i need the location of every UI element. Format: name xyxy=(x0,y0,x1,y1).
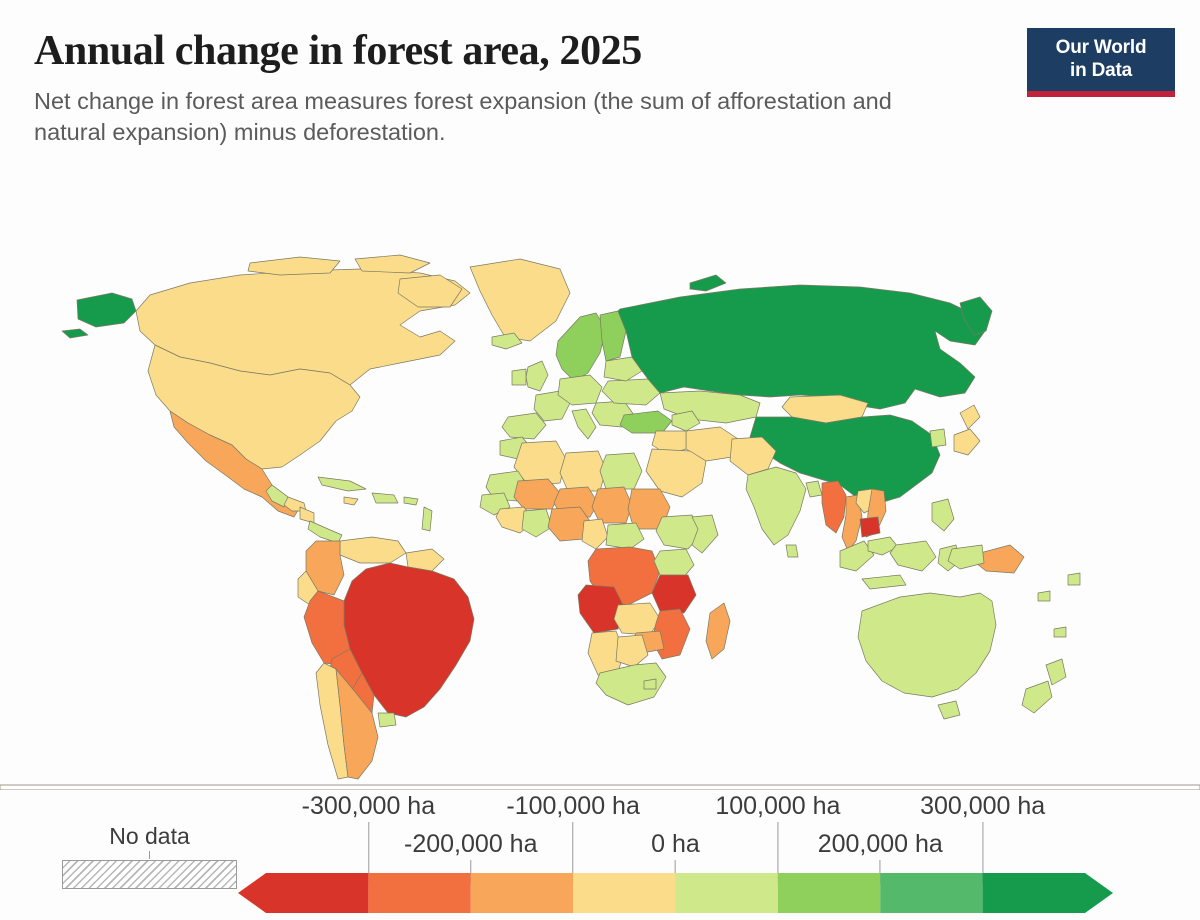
legend-no-data-label: No data xyxy=(62,823,237,849)
country-cuba[interactable] xyxy=(318,477,366,491)
country-alaska[interactable] xyxy=(77,293,136,327)
country-botswana[interactable] xyxy=(616,635,648,667)
country-new-zealand-south[interactable] xyxy=(1022,681,1052,713)
country-cameroon[interactable] xyxy=(582,519,608,549)
country-sri-lanka[interactable] xyxy=(786,545,798,557)
country-lesser-antilles[interactable] xyxy=(422,507,432,531)
country-canada-arctic-1[interactable] xyxy=(248,257,340,275)
legend-bin-1[interactable] xyxy=(368,873,470,913)
country-borneo[interactable] xyxy=(890,541,936,571)
country-jamaica[interactable] xyxy=(344,497,358,505)
country-pacific-islands-2[interactable] xyxy=(1068,573,1080,585)
country-venezuela[interactable] xyxy=(340,537,406,563)
chart-subtitle: Net change in forest area measures fores… xyxy=(34,86,934,148)
country-cambodia[interactable] xyxy=(860,517,880,537)
map-legend: No data -300,000 ha-100,000 ha100,000 ha… xyxy=(0,785,1200,920)
legend-bin-2[interactable] xyxy=(471,873,573,913)
legend-bar-area[interactable] xyxy=(238,873,1113,913)
our-world-in-data-logo[interactable]: Our World in Data xyxy=(1027,28,1175,97)
country-turkey[interactable] xyxy=(620,411,672,433)
logo-line-1: Our World xyxy=(1027,36,1175,59)
legend-tick-label: 200,000 ha xyxy=(818,829,943,859)
country-ireland[interactable] xyxy=(512,369,526,385)
country-egypt[interactable] xyxy=(600,453,642,489)
country-fiji[interactable] xyxy=(1054,627,1066,637)
country-philippines[interactable] xyxy=(932,499,954,531)
country-new-zealand-north[interactable] xyxy=(1046,659,1066,685)
legend-tick-label: -200,000 ha xyxy=(404,829,537,859)
country-tanzania[interactable] xyxy=(652,575,696,613)
country-japan[interactable] xyxy=(960,405,980,429)
country-tasmania[interactable] xyxy=(938,701,960,719)
page-title: Annual change in forest area, 2025 xyxy=(34,26,984,76)
country-india[interactable] xyxy=(746,467,806,545)
legend-no-data-tick xyxy=(149,851,150,859)
legend-no-data-swatch xyxy=(62,860,237,889)
legend-tick-label: -100,000 ha xyxy=(506,791,639,821)
country-car[interactable] xyxy=(606,523,644,549)
country-indonesia-java[interactable] xyxy=(862,575,906,589)
legend-bin-4[interactable] xyxy=(676,873,778,913)
map-svg xyxy=(0,245,1200,790)
country-costa-rica-panama[interactable] xyxy=(308,521,342,543)
country-ghana-ivory[interactable] xyxy=(522,509,552,537)
country-korea[interactable] xyxy=(930,429,946,447)
legend-bar-svg[interactable] xyxy=(238,873,1113,913)
country-pacific-islands-1[interactable] xyxy=(1038,591,1050,601)
country-canada-arctic-2[interactable] xyxy=(355,255,430,273)
legend-color-scale[interactable]: -300,000 ha-100,000 ha100,000 ha300,000 … xyxy=(238,785,1113,920)
country-bangladesh[interactable] xyxy=(806,481,822,497)
country-greenland[interactable] xyxy=(470,259,570,341)
country-novaya-zemlya[interactable] xyxy=(690,275,726,291)
legend-tick-row-upper: -300,000 ha-100,000 ha100,000 ha300,000 … xyxy=(238,791,1113,831)
legend-bin-3[interactable] xyxy=(573,873,675,913)
legend-tick-label: -300,000 ha xyxy=(302,791,435,821)
country-aleutians[interactable] xyxy=(62,329,88,338)
chart-root: Annual change in forest area, 2025 Net c… xyxy=(0,0,1200,920)
country-zambia[interactable] xyxy=(614,603,660,635)
country-nicaragua[interactable] xyxy=(300,507,314,523)
country-somalia[interactable] xyxy=(692,515,718,553)
country-puerto-rico[interactable] xyxy=(404,497,418,505)
country-uk[interactable] xyxy=(526,361,548,391)
country-hispaniola[interactable] xyxy=(372,493,398,503)
legend-bin-5[interactable] xyxy=(778,873,880,913)
country-madagascar[interactable] xyxy=(706,603,730,659)
country-norway-sweden[interactable] xyxy=(556,313,606,381)
country-uganda-kenya[interactable] xyxy=(654,549,694,579)
country-lesotho[interactable] xyxy=(644,679,656,689)
legend-tick-label: 100,000 ha xyxy=(715,791,840,821)
country-libya[interactable] xyxy=(560,451,606,491)
country-spain-portugal[interactable] xyxy=(502,413,546,439)
country-uruguay[interactable] xyxy=(378,713,396,727)
logo-line-2: in Data xyxy=(1027,59,1175,82)
world-choropleth-map[interactable] xyxy=(0,245,1200,790)
legend-bin-0[interactable] xyxy=(238,873,368,913)
legend-tick-label: 300,000 ha xyxy=(920,791,1045,821)
legend-no-data[interactable]: No data xyxy=(62,823,237,889)
legend-tick-row-lower: -200,000 ha0 ha200,000 ha xyxy=(238,829,1113,869)
country-australia[interactable] xyxy=(858,593,996,697)
legend-bin-6[interactable] xyxy=(880,873,982,913)
legend-bin-7[interactable] xyxy=(983,873,1113,913)
legend-tick-label: 0 ha xyxy=(651,829,700,859)
country-myanmar[interactable] xyxy=(822,481,846,533)
chart-header: Annual change in forest area, 2025 Net c… xyxy=(34,26,984,148)
country-russia[interactable] xyxy=(618,285,985,409)
country-japan-honshu[interactable] xyxy=(954,429,980,455)
country-chad[interactable] xyxy=(592,487,632,523)
